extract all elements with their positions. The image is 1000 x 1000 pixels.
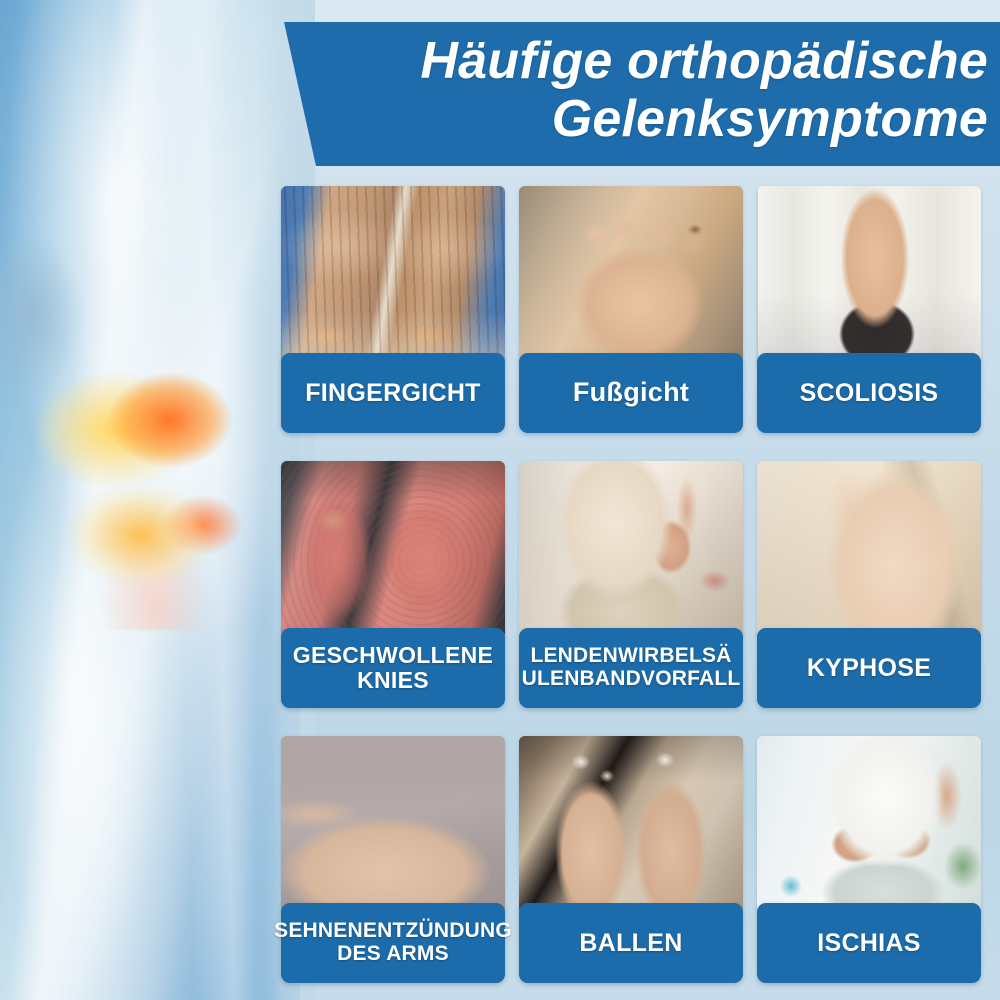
symptom-photo-gouty-hands — [281, 186, 505, 364]
symptom-label-6: KYPHOSE — [757, 628, 981, 708]
symptom-label-text: FINGERGICHT — [297, 380, 489, 407]
symptom-card[interactable]: SCOLIOSIS — [757, 186, 981, 433]
symptom-card[interactable]: Fußgicht — [519, 186, 743, 433]
symptom-photo-lower-back-pain — [519, 461, 743, 639]
symptom-card[interactable]: SEHNENENTZÜNDUNG DES ARMS — [281, 736, 505, 983]
symptom-photo-gouty-foot — [519, 186, 743, 364]
symptom-card-grid: FINGERGICHT Fußgicht SCOLIOSIS GESCHWOLL… — [281, 186, 981, 986]
symptom-label-3: SCOLIOSIS — [757, 353, 981, 433]
symptom-photo-bunion-feet — [519, 736, 743, 914]
symptom-card[interactable]: BALLEN — [519, 736, 743, 983]
symptom-photo-sciatica — [757, 736, 981, 914]
symptom-label-5: LENDENWIRBELSÄ ULENBANDVORFALL — [519, 628, 743, 708]
page-title-line-1: Häufige orthopädische — [420, 32, 988, 90]
symptom-label-text: SEHNENENTZÜNDUNG DES ARMS — [266, 920, 520, 965]
symptom-card[interactable]: KYPHOSE — [757, 461, 981, 708]
page-title: Häufige orthopädische Gelenksymptome — [306, 32, 988, 148]
symptom-label-7: SEHNENENTZÜNDUNG DES ARMS — [281, 903, 505, 983]
page-title-line-2: Gelenksymptome — [306, 90, 988, 148]
symptom-label-text: BALLEN — [571, 930, 690, 957]
symptom-label-1: FINGERGICHT — [281, 353, 505, 433]
symptom-label-9: ISCHIAS — [757, 903, 981, 983]
symptom-photo-kyphosis-torso — [757, 461, 981, 639]
title-banner: Häufige orthopädische Gelenksymptome — [276, 22, 1000, 166]
poster-root: Häufige orthopädische Gelenksymptome FIN… — [0, 0, 1000, 1000]
symptom-label-text: SCOLIOSIS — [792, 380, 947, 407]
symptom-card[interactable]: FINGERGICHT — [281, 186, 505, 433]
symptom-label-2: Fußgicht — [519, 353, 743, 433]
symptom-card[interactable]: ISCHIAS — [757, 736, 981, 983]
symptom-card[interactable]: LENDENWIRBELSÄ ULENBANDVORFALL — [519, 461, 743, 708]
symptom-photo-arm-tendinitis — [281, 736, 505, 914]
symptom-label-text: Fußgicht — [565, 378, 697, 407]
symptom-label-4: GESCHWOLLENE KNIES — [281, 628, 505, 708]
inflammation-glow-icon — [20, 300, 270, 630]
symptom-card[interactable]: GESCHWOLLENE KNIES — [281, 461, 505, 708]
symptom-photo-scoliosis-back — [757, 186, 981, 364]
symptom-label-text: KYPHOSE — [799, 655, 939, 682]
symptom-label-8: BALLEN — [519, 903, 743, 983]
symptom-label-text: LENDENWIRBELSÄ ULENBANDVORFALL — [514, 645, 749, 690]
symptom-label-text: GESCHWOLLENE KNIES — [285, 643, 501, 693]
symptom-photo-swollen-knees — [281, 461, 505, 639]
symptom-label-text: ISCHIAS — [809, 930, 929, 957]
